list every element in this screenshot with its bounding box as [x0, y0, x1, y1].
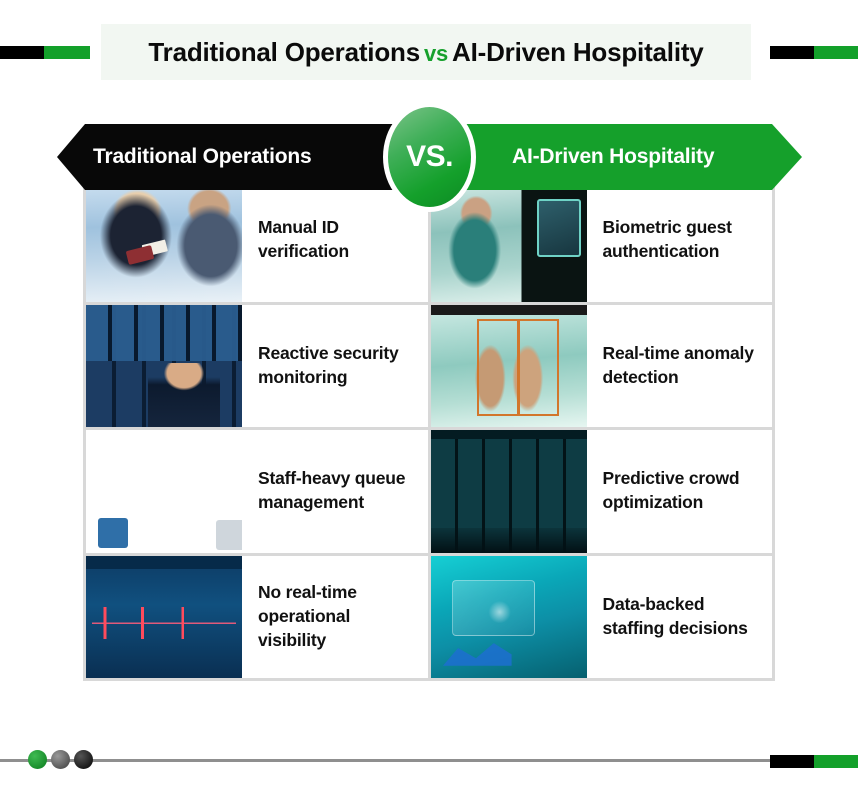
card-text: Predictive crowd optimization [587, 430, 773, 553]
card-text: Reactive security monitoring [242, 305, 428, 428]
footer-decoration [0, 754, 858, 766]
deco-segment-green [44, 46, 90, 59]
column-traditional: Manual ID verification Reactive security… [86, 179, 428, 678]
anomaly-detection-photo [431, 305, 587, 428]
banner-traditional-operations: Traditional Operations [57, 124, 432, 190]
list-item: Reactive security monitoring [86, 305, 428, 428]
footer-bar-right [770, 755, 858, 768]
page-title-plate: Traditional OperationsvsAI-Driven Hospit… [101, 24, 751, 80]
card-text: Data-backed staffing decisions [587, 556, 773, 679]
card-text: Biometric guest authentication [587, 179, 773, 302]
list-item: Predictive crowd optimization [431, 430, 773, 553]
page-title: Traditional OperationsvsAI-Driven Hospit… [148, 37, 703, 68]
banner-ai-driven-hospitality: AI-Driven Hospitality [426, 124, 802, 190]
banner-right-label: AI-Driven Hospitality [512, 145, 714, 169]
list-item-label: Biometric guest authentication [603, 216, 761, 264]
decorative-bar-left [0, 46, 90, 59]
list-item-label: Reactive security monitoring [258, 342, 416, 390]
security-control-room-photo [86, 305, 242, 428]
list-item-label: Staff-heavy queue management [258, 467, 416, 515]
deco-segment-black [0, 46, 44, 59]
card-text: Real-time anomaly detection [587, 305, 773, 428]
list-item-label: Predictive crowd optimization [603, 467, 761, 515]
banner-left-label: Traditional Operations [93, 145, 311, 169]
vs-badge-label: VS. [406, 140, 453, 174]
list-item-label: Data-backed staffing decisions [603, 593, 761, 641]
list-item-label: Manual ID verification [258, 216, 416, 264]
deco-segment-green [814, 46, 858, 59]
comparison-grid: Manual ID verification Reactive security… [83, 176, 775, 681]
footer-rule [0, 759, 858, 762]
infographic-page: Traditional OperationsvsAI-Driven Hospit… [0, 0, 858, 795]
list-item-label: No real-time operational visibility [258, 581, 416, 652]
vs-badge: VS. [383, 102, 476, 212]
decorative-bar-right [770, 46, 858, 59]
deco-segment-black [770, 46, 814, 59]
deco-segment-black [770, 755, 814, 768]
airport-queue-photo [86, 430, 242, 553]
list-item: Biometric guest authentication [431, 179, 773, 302]
card-text: Staff-heavy queue management [242, 430, 428, 553]
manual-id-check-photo [86, 179, 242, 302]
cctv-video-wall-photo [431, 430, 587, 553]
list-item: No real-time operational visibility [86, 556, 428, 679]
list-item: Data-backed staffing decisions [431, 556, 773, 679]
footer-dot-black [74, 750, 93, 769]
comparison-banner-row: Traditional Operations AI-Driven Hospita… [0, 124, 858, 190]
footer-dot-gray [51, 750, 70, 769]
page-title-part1: Traditional Operations [148, 37, 420, 67]
deco-segment-green [814, 755, 858, 768]
footer-dot-green [28, 750, 47, 769]
page-title-part2: AI-Driven Hospitality [452, 37, 704, 67]
title-strip: Traditional OperationsvsAI-Driven Hospit… [0, 24, 858, 80]
queue-flow-dashboard-photo [86, 556, 242, 679]
list-item-label: Real-time anomaly detection [603, 342, 761, 390]
list-item: Manual ID verification [86, 179, 428, 302]
column-ai-driven: Biometric guest authentication Real-time… [431, 179, 773, 678]
page-title-vs: vs [420, 41, 452, 66]
data-analytics-photo [431, 556, 587, 679]
list-item: Staff-heavy queue management [86, 430, 428, 553]
card-text: No real-time operational visibility [242, 556, 428, 679]
list-item: Real-time anomaly detection [431, 305, 773, 428]
